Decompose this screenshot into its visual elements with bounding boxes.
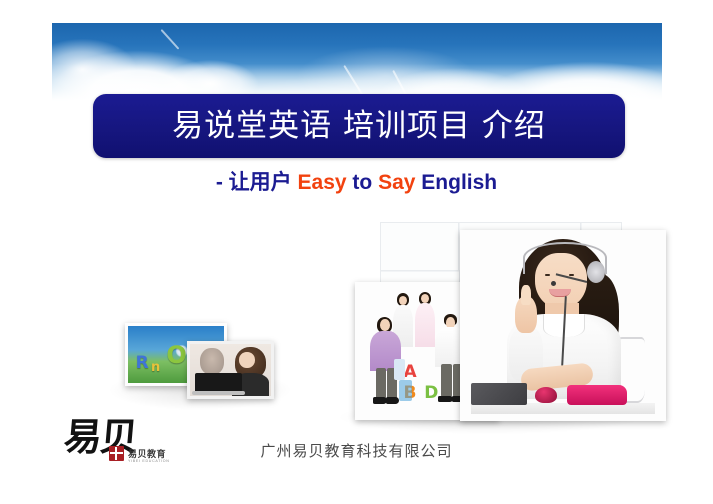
- desk-phone: [567, 385, 627, 405]
- subtitle-dash: -: [216, 171, 229, 194]
- photo-collage: R n O e P: [40, 210, 680, 425]
- background-frame: [380, 222, 460, 272]
- laptop: [471, 383, 527, 405]
- person-body: [415, 303, 436, 347]
- abc-letter-a: A: [404, 362, 417, 382]
- laptop-base: [192, 391, 245, 395]
- company-name: 广州易贝教育科技有限公司: [0, 440, 713, 461]
- person-eye: [569, 274, 574, 276]
- subtitle-english: English: [421, 171, 497, 194]
- subtitle-chinese: 让用户: [229, 170, 292, 194]
- block: [399, 380, 411, 401]
- letter-glyph: n: [151, 360, 160, 375]
- sky-banner-image: [52, 23, 662, 101]
- letter-glyph: O: [166, 341, 186, 369]
- person-silhouette: [200, 348, 224, 375]
- subtitle-to: to: [352, 171, 372, 194]
- person-face: [239, 352, 254, 368]
- photo-left-laptop-lady: [187, 341, 274, 399]
- contrail-streak: [160, 29, 179, 50]
- person-eye: [545, 274, 550, 276]
- title-banner: 易说堂英语 培训项目 介绍: [93, 94, 625, 158]
- subtitle-easy: Easy: [298, 171, 347, 194]
- sky-haze: [296, 46, 476, 101]
- presentation-slide: 易说堂英语 培训项目 介绍 - 让用户 Easy to Say English …: [0, 0, 713, 504]
- abc-letter-d: D: [424, 383, 438, 403]
- subtitle: - 让用户 Easy to Say English: [0, 172, 713, 193]
- person-face: [399, 296, 407, 305]
- letter-glyph: R: [136, 353, 149, 373]
- desk-mouse: [535, 387, 557, 404]
- subtitle-say: Say: [378, 171, 415, 194]
- block: [394, 359, 405, 380]
- photo-right-headset-woman: [460, 230, 666, 421]
- pointing-finger: [521, 285, 531, 305]
- person-face: [380, 319, 390, 331]
- headset-earcup: [587, 261, 605, 283]
- page-title: 易说堂英语 培训项目 介绍: [172, 111, 546, 142]
